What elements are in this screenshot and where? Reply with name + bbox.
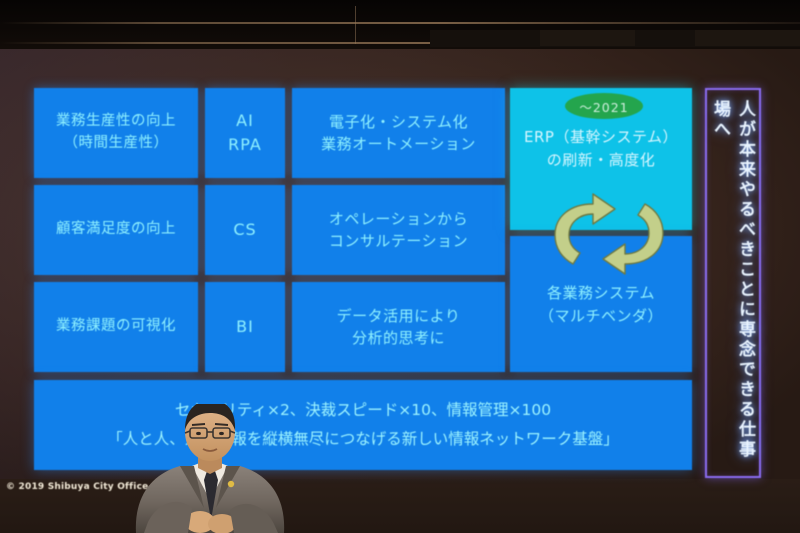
cell-goal-row1: 業務生産性の向上 （時間生産性）	[34, 88, 198, 178]
cell-line: 業務課題の可視化	[56, 316, 176, 338]
cell-tag-row1: AI RPA	[205, 88, 285, 178]
cell-line: 顧客満足度の向上	[56, 219, 176, 241]
cell-line: CS	[233, 218, 256, 242]
ceiling-pole-left	[355, 6, 356, 44]
cell-line: 業務オートメーション	[321, 133, 476, 156]
ceiling-rail-upper	[0, 22, 800, 24]
bottom-banner: セキュリティ×2、決裁スピード×10、情報管理×100 「人と人、人と情報を縦横…	[34, 380, 692, 470]
cell-goal-row3: 業務課題の可視化	[34, 282, 198, 372]
cell-business-systems: 各業務システム （マルチベンダ）	[510, 236, 692, 372]
cell-line: 各業務システム	[547, 282, 655, 305]
cell-desc-row3: データ活用により 分析的思考に	[292, 282, 505, 372]
cell-desc-row2: オペレーションから コンサルテーション	[292, 185, 505, 275]
cell-line: ERP（基幹システム）	[524, 126, 678, 149]
cell-tag-row3: BI	[205, 282, 285, 372]
cell-line: 分析的思考に	[352, 327, 445, 350]
cell-desc-row1: 電子化・システム化 業務オートメーション	[292, 88, 505, 178]
copyright-notice: © 2019 Shibuya City Office All Rights Re…	[6, 482, 258, 492]
cell-tag-row2: CS	[205, 185, 285, 275]
vertical-outcome-box: 人が本来やるべきことに専念できる仕事場へ	[705, 88, 761, 478]
vertical-outcome-text: 人が本来やるべきことに専念できる仕事場へ	[708, 100, 758, 476]
cell-line: RPA	[228, 133, 262, 157]
cell-line: （マルチベンダ）	[539, 305, 663, 328]
cell-line: コンサルテーション	[329, 230, 468, 253]
badge-target-year: ～2021	[565, 93, 643, 119]
ceiling-panel-b	[695, 30, 800, 46]
cell-goal-row2: 顧客満足度の向上	[34, 185, 198, 275]
presentation-photo: 業務生産性の向上 （時間生産性） AI RPA 電子化・システム化 業務オートメ…	[0, 0, 800, 533]
cell-line: オペレーションから	[329, 208, 468, 231]
cell-line: 電子化・システム化	[329, 111, 468, 134]
cell-line: の刷新・高度化	[547, 149, 656, 172]
cell-line: BI	[236, 315, 254, 339]
banner-line: セキュリティ×2、決裁スピード×10、情報管理×100	[175, 396, 551, 425]
copyright-text: © 2019 Shibuya City Office All Rights Re…	[6, 482, 258, 492]
ceiling-panel-a	[540, 30, 635, 46]
badge-label: ～2021	[579, 97, 628, 116]
cell-line: データ活用により	[337, 305, 461, 328]
banner-line: 「人と人、人と情報を縦横無尽につなげる新しい情報ネットワーク基盤」	[107, 425, 619, 454]
cell-line: AI	[236, 109, 254, 133]
cell-line: 業務生産性の向上	[56, 111, 176, 133]
cell-line: （時間生産性）	[64, 133, 169, 155]
stage-ceiling	[0, 0, 800, 49]
